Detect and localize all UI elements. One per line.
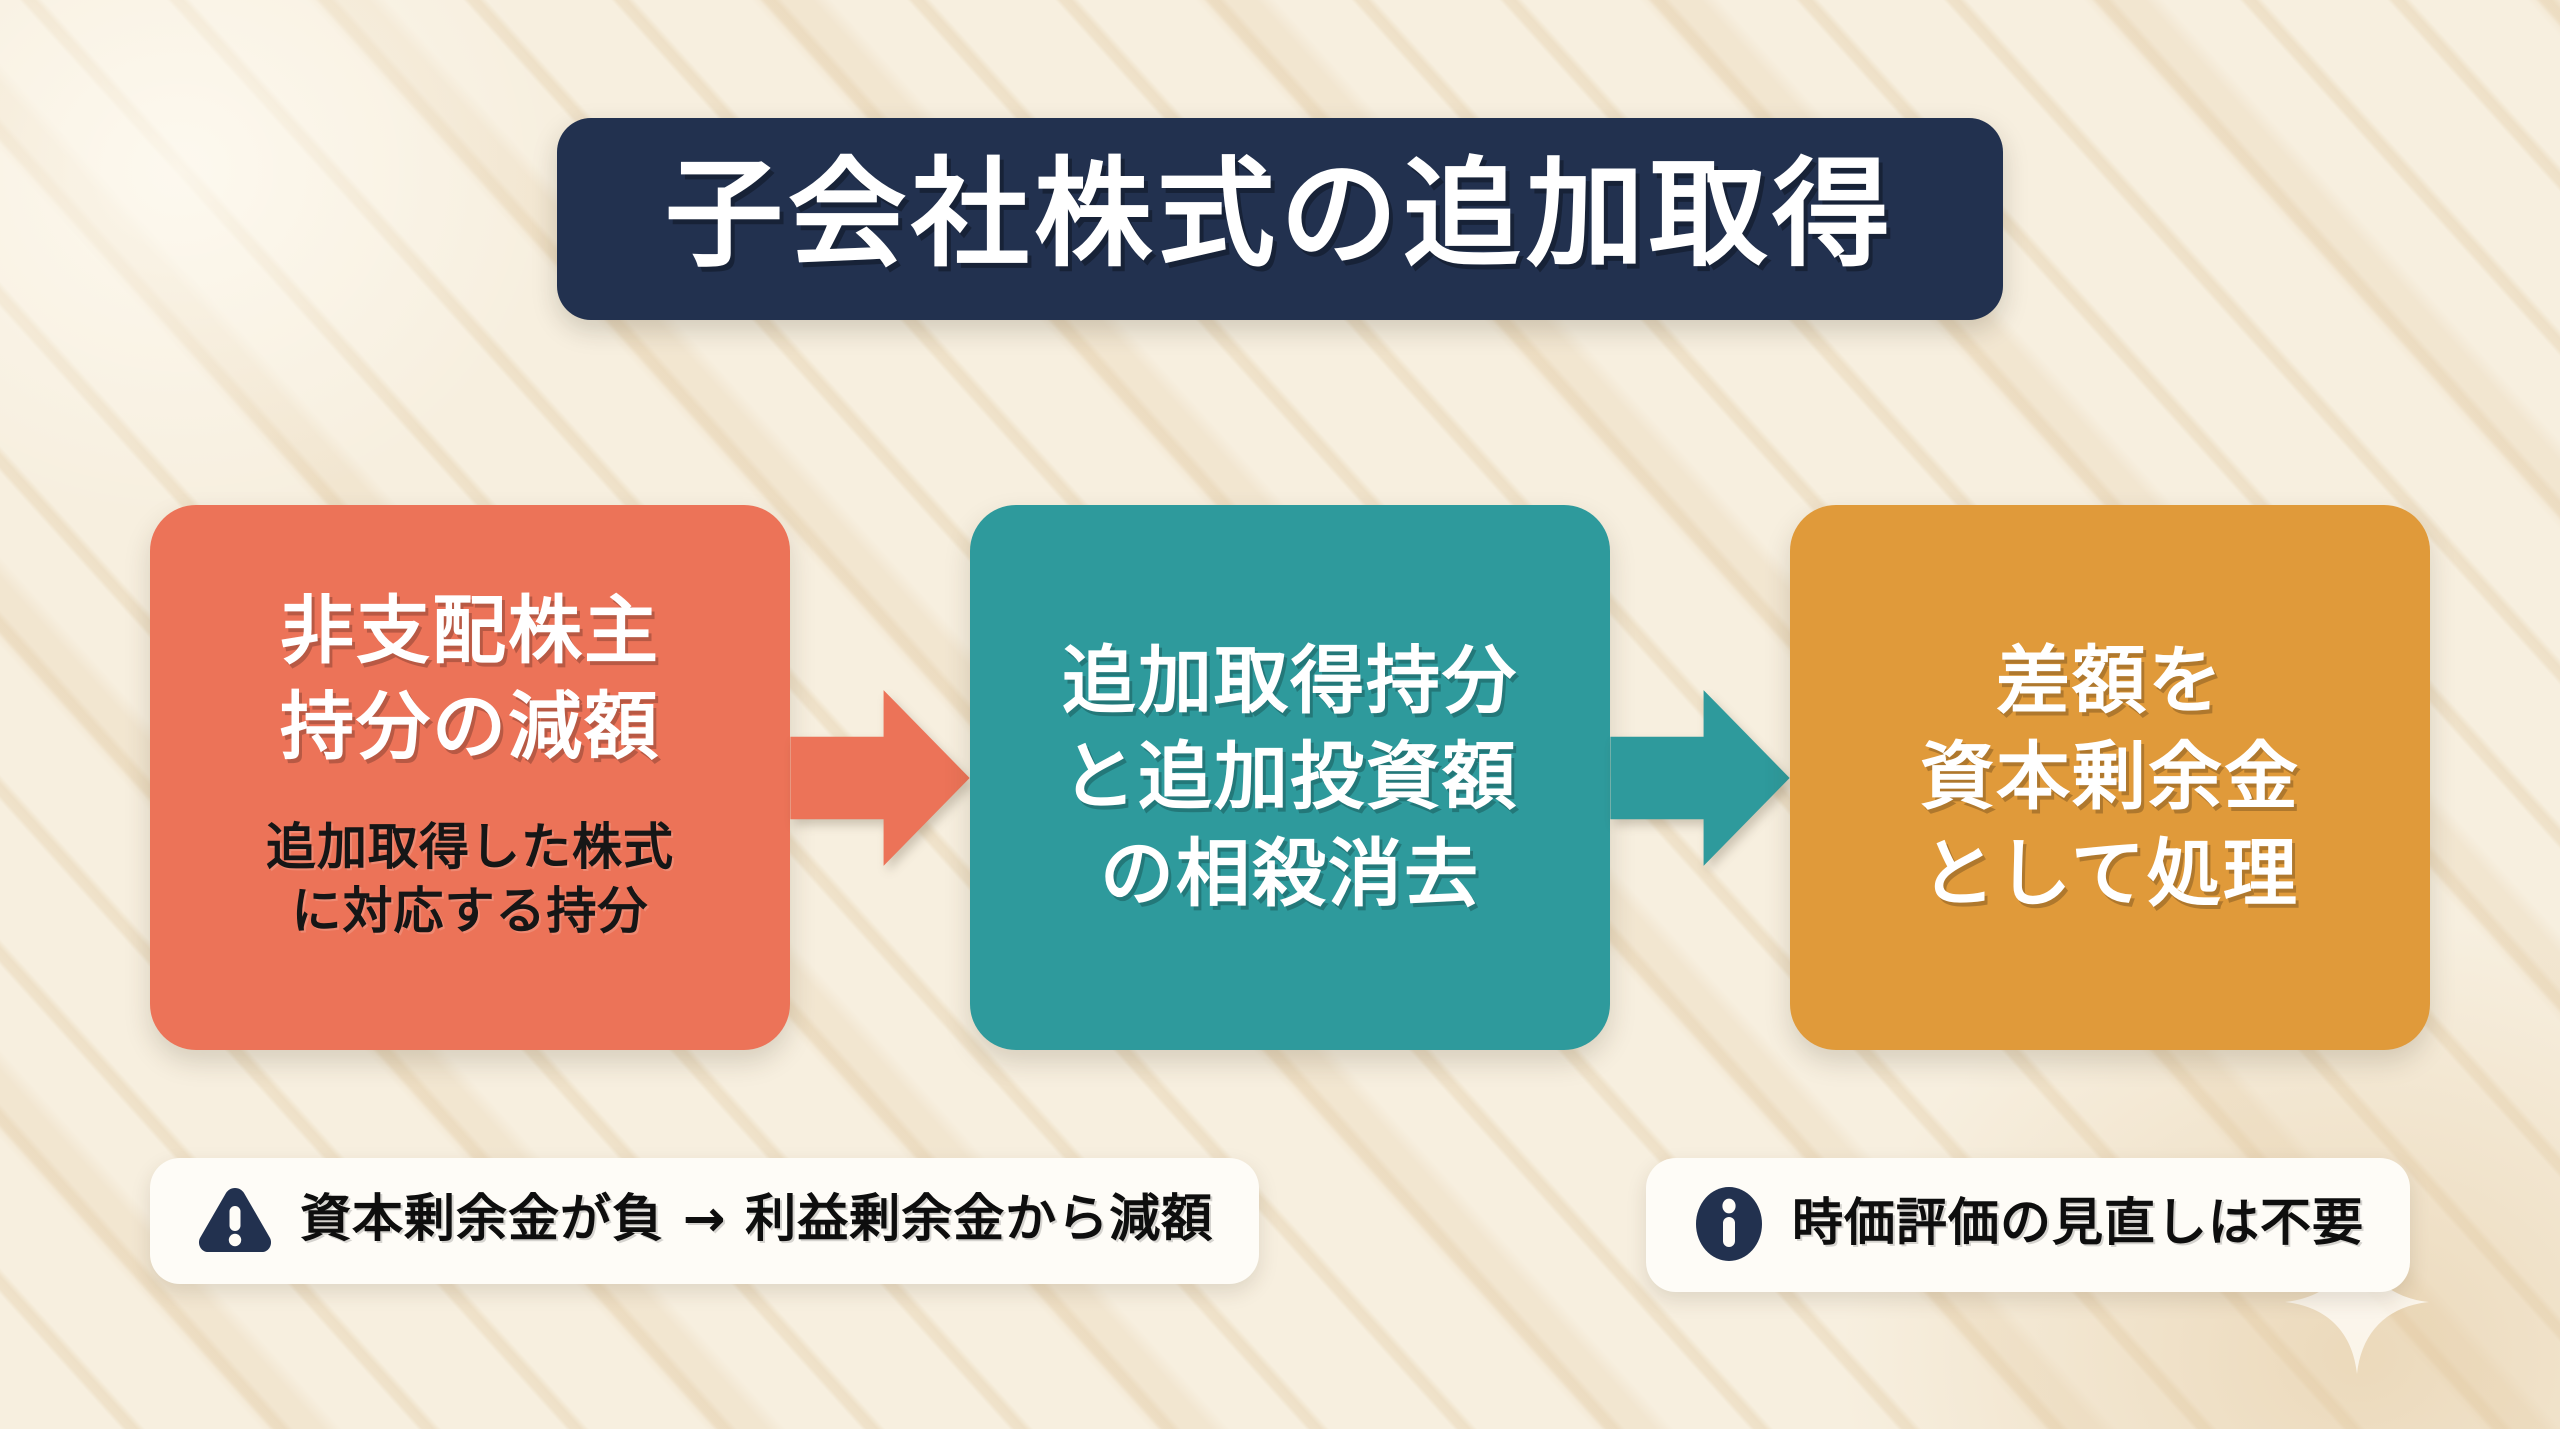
flow-step-2-title: 追加取得持分 と追加投資額 の相殺消去	[1062, 633, 1518, 922]
infographic-slide: 子会社株式の追加取得 非支配株主 持分の減額 追加取得した株式 に対応する持分 …	[0, 0, 2560, 1429]
flow-step-1-title: 非支配株主 持分の減額	[280, 583, 660, 775]
flow-step-1[interactable]: 非支配株主 持分の減額 追加取得した株式 に対応する持分	[150, 505, 790, 1050]
page-title: 子会社株式の追加取得	[665, 148, 1895, 280]
arrow-right-icon	[790, 683, 970, 873]
note-info-text: 時価評価の見直しは不要	[1792, 1196, 2364, 1252]
flow-arrow-1	[790, 505, 970, 1050]
warning-triangle-icon	[196, 1184, 274, 1256]
process-flow: 非支配株主 持分の減額 追加取得した株式 に対応する持分 追加取得持分 と追加投…	[150, 505, 2410, 1050]
note-info[interactable]: 時価評価の見直しは不要	[1646, 1158, 2410, 1292]
flow-arrow-2	[1610, 505, 1790, 1050]
page-title-badge: 子会社株式の追加取得	[557, 118, 2003, 320]
flow-step-2[interactable]: 追加取得持分 と追加投資額 の相殺消去	[970, 505, 1610, 1050]
page-title-container: 子会社株式の追加取得	[0, 118, 2560, 320]
notes-row: 資本剰余金が負 → 利益剰余金から減額 時価評価の見直しは不要	[150, 1158, 2410, 1292]
arrow-right-icon	[1610, 683, 1790, 873]
note-warning-text: 資本剰余金が負 → 利益剰余金から減額	[300, 1192, 1213, 1248]
note-warning[interactable]: 資本剰余金が負 → 利益剰余金から減額	[150, 1158, 1259, 1284]
flow-step-1-subtitle: 追加取得した株式 に対応する持分	[266, 815, 674, 943]
info-circle-icon	[1692, 1184, 1766, 1264]
flow-step-3[interactable]: 差額を 資本剰余金 として処理	[1790, 505, 2430, 1050]
flow-step-3-title: 差額を 資本剰余金 として処理	[1920, 633, 2300, 922]
